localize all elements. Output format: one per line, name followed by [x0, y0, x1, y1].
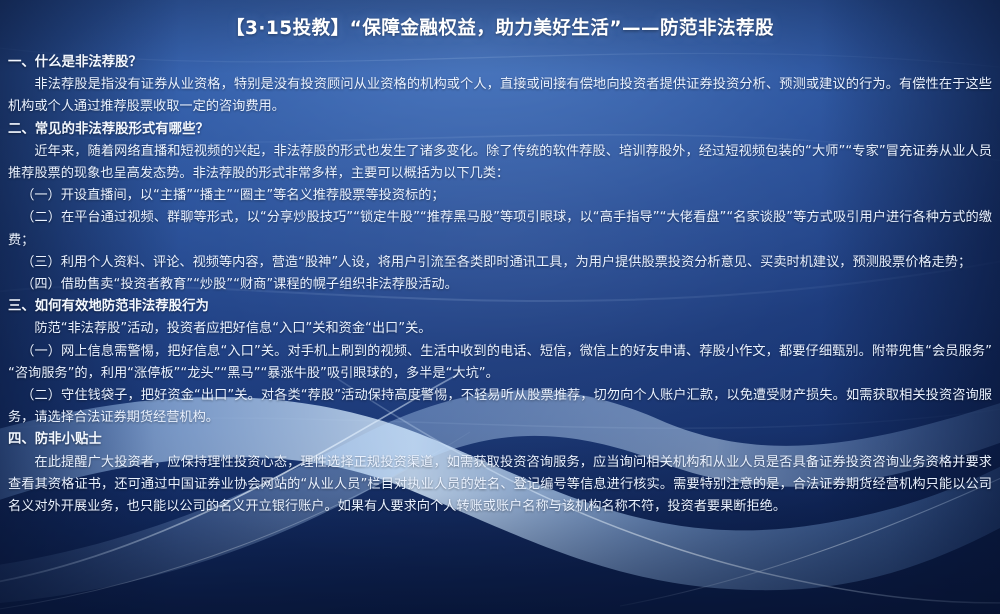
- section-3-item-2: （二）守住钱袋子，把好资金“出口”关。对各类“荐股”活动保持高度警惕，不轻易听从…: [8, 385, 992, 429]
- section-3-item-1: （一）网上信息需警惕，把好信息“入口”关。对手机上刷到的视频、生活中收到的电话、…: [8, 341, 992, 385]
- section-4-paragraph: 在此提醒广大投资者，应保持理性投资心态，理性选择正规投资渠道，如需获取投资咨询服…: [8, 452, 992, 519]
- section-2: 二、常见的非法荐股形式有哪些？ 近年来，随着网络直播和短视频的兴起，非法荐股的形…: [8, 119, 992, 297]
- section-2-item-3: （三）利用个人资料、评论、视频等内容，营造“股神”人设，将用户引流至各类即时通讯…: [8, 252, 992, 274]
- section-2-paragraph: 近年来，随着网络直播和短视频的兴起，非法荐股的形式也发生了诸多变化。除了传统的软…: [8, 141, 992, 185]
- page-title: 【3·15投教】“保障金融权益，助力美好生活”——防范非法荐股: [0, 14, 1000, 40]
- section-1: 一、什么是非法荐股？ 非法荐股是指没有证券从业资格，特别是没有投资顾问从业资格的…: [8, 52, 992, 119]
- section-1-heading: 一、什么是非法荐股？: [8, 52, 992, 74]
- section-2-item-1: （一）开设直播间，以“主播”“播主”“圈主”等名义推荐股票等投资标的；: [8, 185, 992, 207]
- poster-canvas: 【3·15投教】“保障金融权益，助力美好生活”——防范非法荐股 一、什么是非法荐…: [0, 0, 1000, 614]
- section-2-heading: 二、常见的非法荐股形式有哪些？: [8, 119, 992, 141]
- article-body: 一、什么是非法荐股？ 非法荐股是指没有证券从业资格，特别是没有投资顾问从业资格的…: [8, 52, 992, 518]
- section-4: 四、防非小贴士 在此提醒广大投资者，应保持理性投资心态，理性选择正规投资渠道，如…: [8, 429, 992, 518]
- section-1-paragraph: 非法荐股是指没有证券从业资格，特别是没有投资顾问从业资格的机构或个人，直接或间接…: [8, 74, 992, 118]
- section-3: 三、如何有效地防范非法荐股行为 防范“非法荐股”活动，投资者应把好信息“入口”关…: [8, 296, 992, 429]
- poster-content: 【3·15投教】“保障金融权益，助力美好生活”——防范非法荐股 一、什么是非法荐…: [0, 0, 1000, 614]
- section-2-item-2: （二）在平台通过视频、群聊等形式，以“分享炒股技巧”“锁定牛股”“推荐黑马股”等…: [8, 207, 992, 251]
- section-3-paragraph: 防范“非法荐股”活动，投资者应把好信息“入口”关和资金“出口”关。: [8, 318, 992, 340]
- section-4-heading: 四、防非小贴士: [8, 429, 992, 451]
- section-3-heading: 三、如何有效地防范非法荐股行为: [8, 296, 992, 318]
- section-2-item-4: （四）借助售卖“投资者教育”“炒股”“财商”课程的幌子组织非法荐股活动。: [8, 274, 992, 296]
